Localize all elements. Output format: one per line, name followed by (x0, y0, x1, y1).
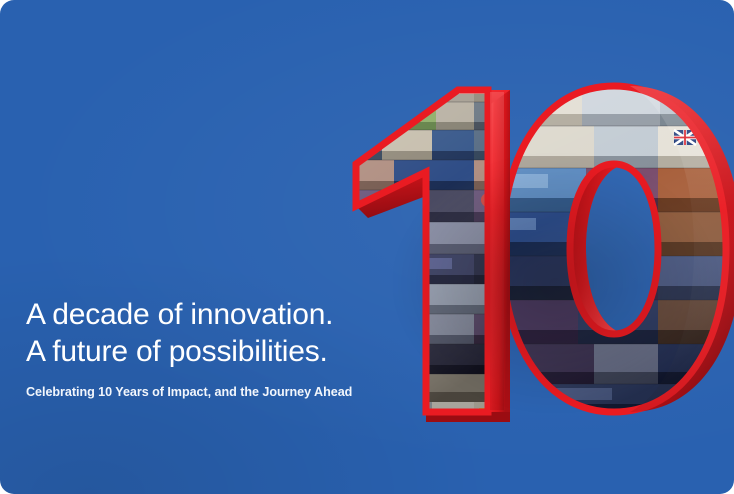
headline-line-1: A decade of innovation. (26, 296, 406, 333)
banner-canvas: A decade of innovation. A future of poss… (0, 0, 734, 494)
subheadline: Celebrating 10 Years of Impact, and the … (26, 384, 406, 400)
headline-line-2: A future of possibilities. (26, 333, 406, 370)
copy-block: A decade of innovation. A future of poss… (26, 296, 406, 400)
page-title: A decade of innovation. A future of poss… (26, 296, 406, 370)
numeral-zero (488, 72, 734, 424)
one-sheen (490, 92, 504, 410)
